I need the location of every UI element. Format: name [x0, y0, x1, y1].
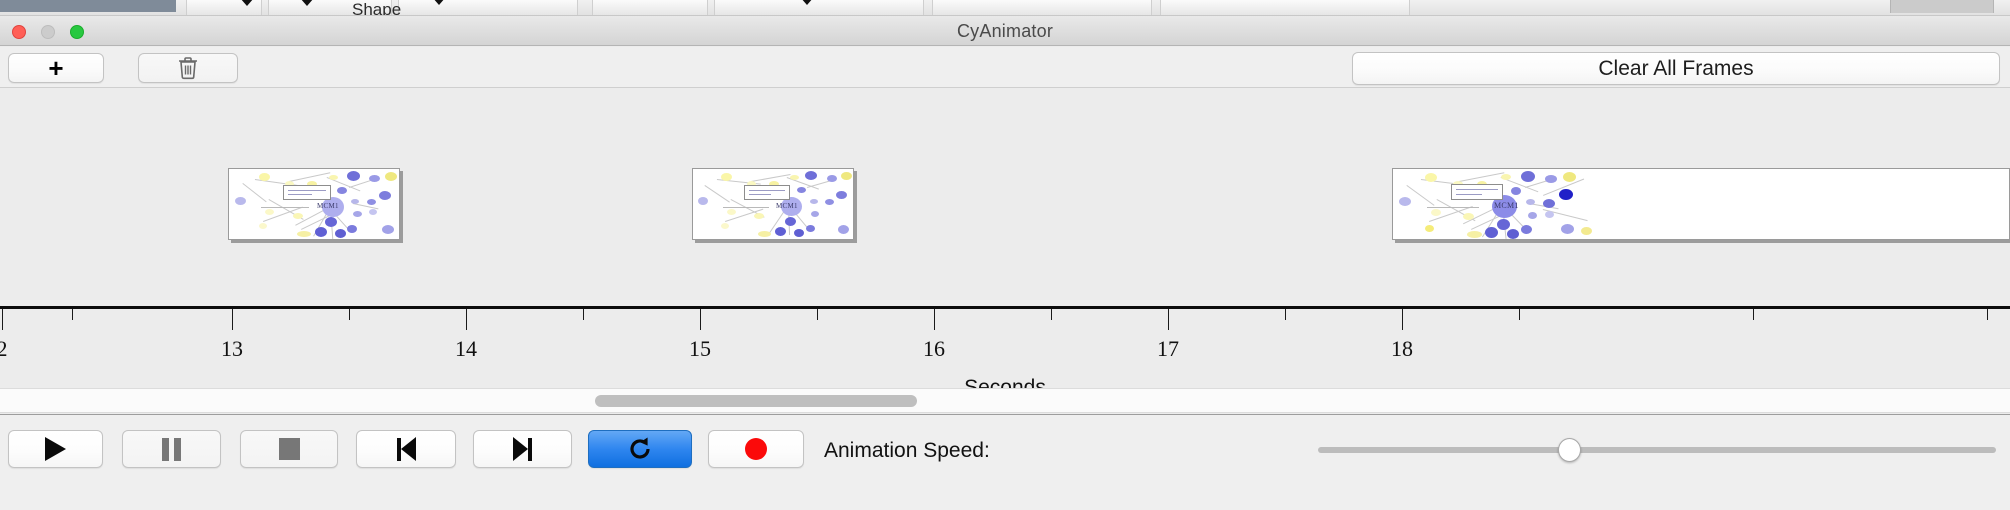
axis-tick-major [700, 309, 701, 330]
trash-icon [177, 56, 199, 80]
timeline-scrollbar[interactable] [0, 388, 2010, 413]
axis-tick-minor [1285, 309, 1286, 320]
background-caret-icon [240, 0, 254, 6]
axis-tick-major [934, 309, 935, 330]
plus-icon: + [48, 55, 63, 81]
animation-speed-label: Animation Speed: [824, 439, 990, 463]
axis-tick-minor [349, 309, 350, 320]
record-button[interactable] [708, 430, 804, 468]
animation-speed-slider[interactable] [1318, 447, 1996, 453]
timeline-panel[interactable]: MCM1 [0, 88, 2010, 388]
record-icon [745, 438, 767, 460]
network-preview: MCM1 [1393, 169, 2009, 239]
node-tooltip [744, 185, 790, 200]
axis-tick-label: 18 [1391, 336, 1413, 362]
axis-tick-minor [72, 309, 73, 320]
delete-frame-button[interactable] [138, 53, 238, 83]
frame-thumbnail[interactable]: MCM1 [1392, 168, 2010, 240]
background-segment [714, 0, 924, 15]
axis-tick-major [1402, 309, 1403, 330]
animation-speed-slider-thumb[interactable] [1558, 438, 1581, 462]
hub-node-label: MCM1 [317, 202, 339, 210]
stop-button[interactable] [240, 430, 338, 468]
axis-tick-minor [1753, 309, 1754, 320]
network-preview: MCM1 [229, 169, 399, 239]
pause-button[interactable] [122, 430, 221, 468]
background-scrollbar [1890, 0, 1994, 13]
hub-node-label: MCM1 [1494, 201, 1519, 210]
background-app-strip: Shape [0, 0, 2010, 16]
timeline-scrollbar-thumb[interactable] [595, 395, 917, 407]
clear-all-frames-button[interactable]: Clear All Frames [1352, 52, 2000, 85]
axis-tick-minor [1987, 309, 1988, 320]
background-caret-icon [432, 0, 446, 5]
skip-forward-icon [513, 437, 532, 461]
background-caret-icon [300, 0, 314, 6]
frame-thumbnail[interactable]: MCM1 [228, 168, 400, 240]
axis-tick-label: 17 [1157, 336, 1179, 362]
loop-icon [627, 436, 653, 462]
add-frame-button[interactable]: + [8, 53, 104, 83]
frame-thumbnail[interactable]: MCM1 [692, 168, 854, 240]
timeline-axis [0, 306, 2010, 309]
first-frame-button[interactable] [356, 430, 456, 468]
axis-tick-minor [1519, 309, 1520, 320]
axis-tick-major [2, 309, 3, 330]
stop-icon [279, 438, 300, 460]
node-tooltip [1451, 184, 1503, 200]
clear-all-frames-label: Clear All Frames [1598, 57, 1753, 81]
axis-tick-label: 15 [689, 336, 711, 362]
axis-tick-major [1168, 309, 1169, 330]
background-segment [1160, 0, 1410, 15]
axis-tick-major [232, 309, 233, 330]
background-caret-icon [800, 0, 814, 5]
hub-node-label: MCM1 [776, 202, 798, 210]
node-tooltip [283, 185, 331, 200]
background-segment [398, 0, 578, 15]
axis-tick-label: 13 [221, 336, 243, 362]
last-frame-button[interactable] [473, 430, 572, 468]
axis-tick-minor [817, 309, 818, 320]
axis-tick-label: 14 [455, 336, 477, 362]
frame-toolbar: + Clear All Frames [0, 47, 2010, 88]
axis-tick-minor [583, 309, 584, 320]
background-segment [592, 0, 708, 15]
skip-back-icon [397, 437, 416, 461]
pause-icon [162, 438, 181, 461]
window-title: CyAnimator [0, 16, 2010, 46]
background-app-word: Shape [352, 0, 401, 16]
axis-tick-major [466, 309, 467, 330]
network-preview: MCM1 [693, 169, 853, 239]
play-button[interactable] [8, 430, 103, 468]
loop-button[interactable] [588, 430, 692, 468]
playback-control-bar: Animation Speed: [0, 414, 2010, 510]
cyanimator-window: Shape CyAnimator + Clear All Frames [0, 0, 2010, 510]
axis-tick-label: 2 [0, 336, 8, 362]
background-dark-block [0, 0, 176, 12]
background-segment [932, 0, 1152, 15]
play-icon [45, 437, 66, 461]
axis-tick-minor [1051, 309, 1052, 320]
title-bar: CyAnimator [0, 16, 2010, 46]
axis-title: Seconds [0, 376, 2010, 388]
axis-tick-label: 16 [923, 336, 945, 362]
